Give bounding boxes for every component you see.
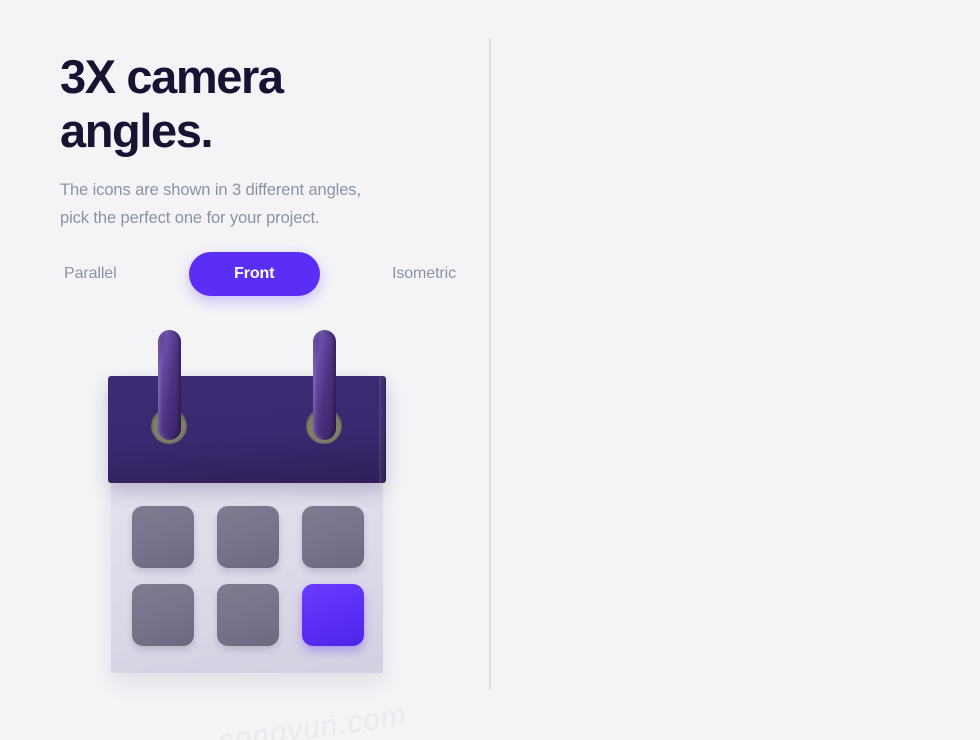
calendar-day-cell-selected xyxy=(302,584,364,646)
page-root: 3X camera angles. The icons are shown in… xyxy=(0,0,980,740)
page-title-left: 3X camera angles. xyxy=(60,50,283,158)
calendar-day-grid xyxy=(132,506,364,646)
calendar-ring-right xyxy=(313,330,336,440)
calendar-day-cell xyxy=(217,506,279,568)
calendar-day-cell xyxy=(132,584,194,646)
calendar-3d-icon: songyun.com ngyun.com xyxy=(108,330,386,675)
right-panel: Colors & glossines. Easily customize any… xyxy=(490,0,980,740)
calendar-day-cell xyxy=(302,506,364,568)
angle-option-front[interactable]: Front xyxy=(189,252,320,296)
calendar-day-cell xyxy=(132,506,194,568)
angle-option-isometric[interactable]: Isometric xyxy=(388,265,460,283)
watermark: songyun.com xyxy=(217,699,409,740)
calendar-ring-left xyxy=(158,330,181,440)
camera-angle-selector: Parallel Front Isometric xyxy=(60,252,460,296)
calendar-header xyxy=(108,376,386,483)
angle-option-parallel[interactable]: Parallel xyxy=(60,265,121,283)
calendar-day-cell xyxy=(217,584,279,646)
subtitle-left: The icons are shown in 3 different angle… xyxy=(60,176,361,232)
left-panel: 3X camera angles. The icons are shown in… xyxy=(0,0,490,740)
